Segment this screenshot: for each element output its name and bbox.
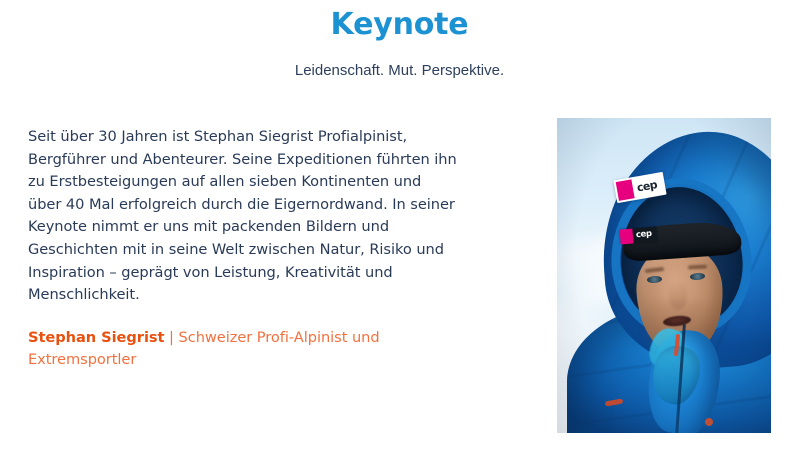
keynote-slide: Keynote Leidenschaft. Mut. Perspektive. … [0, 0, 799, 462]
cep-logo-text: cep [632, 226, 657, 243]
zipper-pull-lower [705, 418, 713, 426]
attribution-separator: | [164, 329, 178, 346]
cep-logo-accent-block [619, 228, 633, 244]
slide-header: Keynote Leidenschaft. Mut. Perspektive. [0, 0, 799, 81]
slide-content: Seit über 30 Jahren ist Stephan Siegrist… [0, 118, 799, 448]
headband-cep-logo: cep [619, 226, 657, 244]
photo-column: cep cep [557, 118, 771, 433]
cep-patch-text: cep [631, 174, 664, 198]
speaker-attribution: Stephan Siegrist | Schweizer Profi-Alpin… [28, 307, 458, 372]
speaker-photo: cep cep [557, 118, 771, 433]
page-title: Keynote [0, 0, 799, 43]
nose [669, 282, 687, 310]
page-subtitle: Leidenschaft. Mut. Perspektive. [0, 43, 799, 81]
speaker-name: Stephan Siegrist [28, 329, 164, 346]
text-column: Seit über 30 Jahren ist Stephan Siegrist… [28, 126, 458, 372]
body-paragraph: Seit über 30 Jahren ist Stephan Siegrist… [28, 126, 458, 307]
